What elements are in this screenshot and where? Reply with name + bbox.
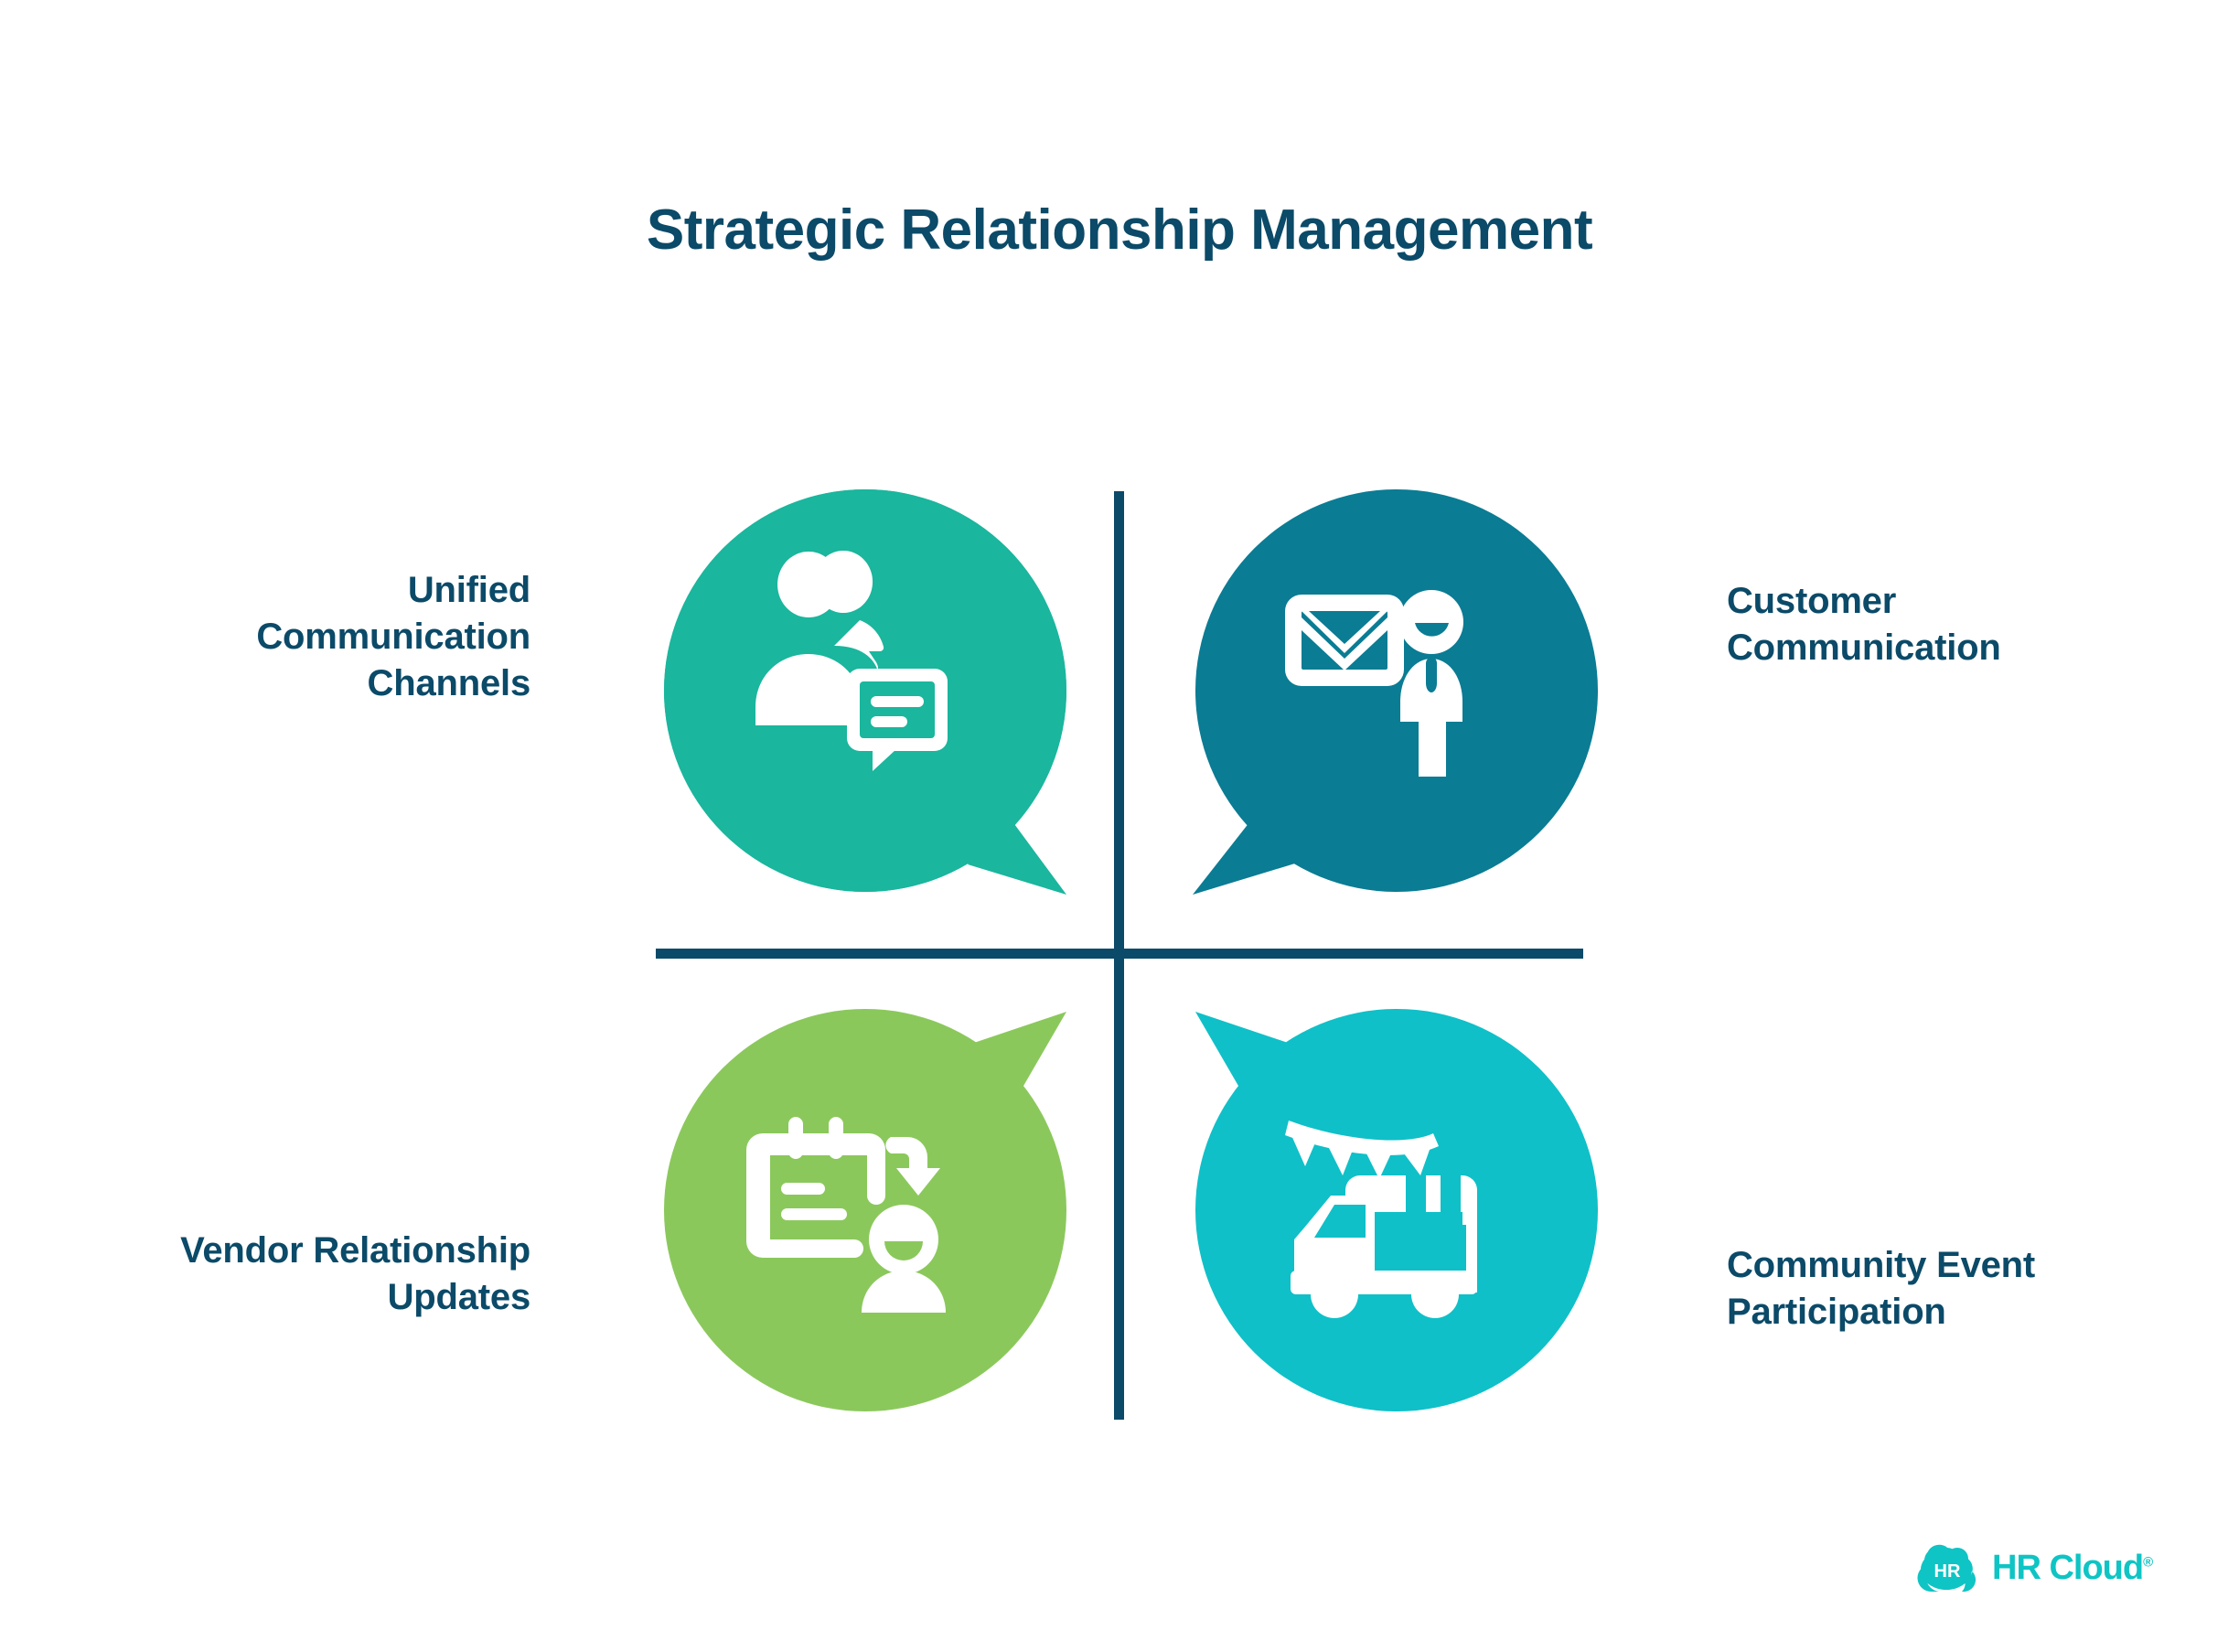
bubble-shape-top-right <box>1193 489 1598 895</box>
brand-logo[interactable]: HR HR Cloud® <box>1917 1542 2152 1593</box>
quadrant-label-bottom-left: Vendor Relationship Updates <box>165 1228 530 1321</box>
bubble-top-left[interactable] <box>664 489 1066 892</box>
bubble-top-right[interactable] <box>1195 489 1598 892</box>
quadrant-label-top-left: Unified Communication Channels <box>165 567 530 708</box>
hr-cloud-wordmark: HR Cloud® <box>1992 1549 2152 1588</box>
quadrant-diagram: Unified Communication Channels Customer … <box>0 0 2239 1652</box>
bubble-bottom-right[interactable] <box>1195 1009 1598 1411</box>
hr-cloud-mark-icon: HR <box>1917 1542 1979 1593</box>
bubble-shape-bottom-left <box>664 1009 1066 1411</box>
registered-trademark-symbol: ® <box>2143 1554 2152 1570</box>
quadrant-label-bottom-right: Community Event Participation <box>1727 1242 2157 1336</box>
bubble-bottom-left[interactable] <box>664 1009 1066 1411</box>
quadrant-label-top-right: Customer Communication <box>1727 578 2157 671</box>
hr-cloud-wordmark-text: HR Cloud <box>1992 1549 2143 1587</box>
hr-mark-text: HR <box>1934 1561 1961 1582</box>
divider-vertical-line <box>1114 491 1124 1420</box>
